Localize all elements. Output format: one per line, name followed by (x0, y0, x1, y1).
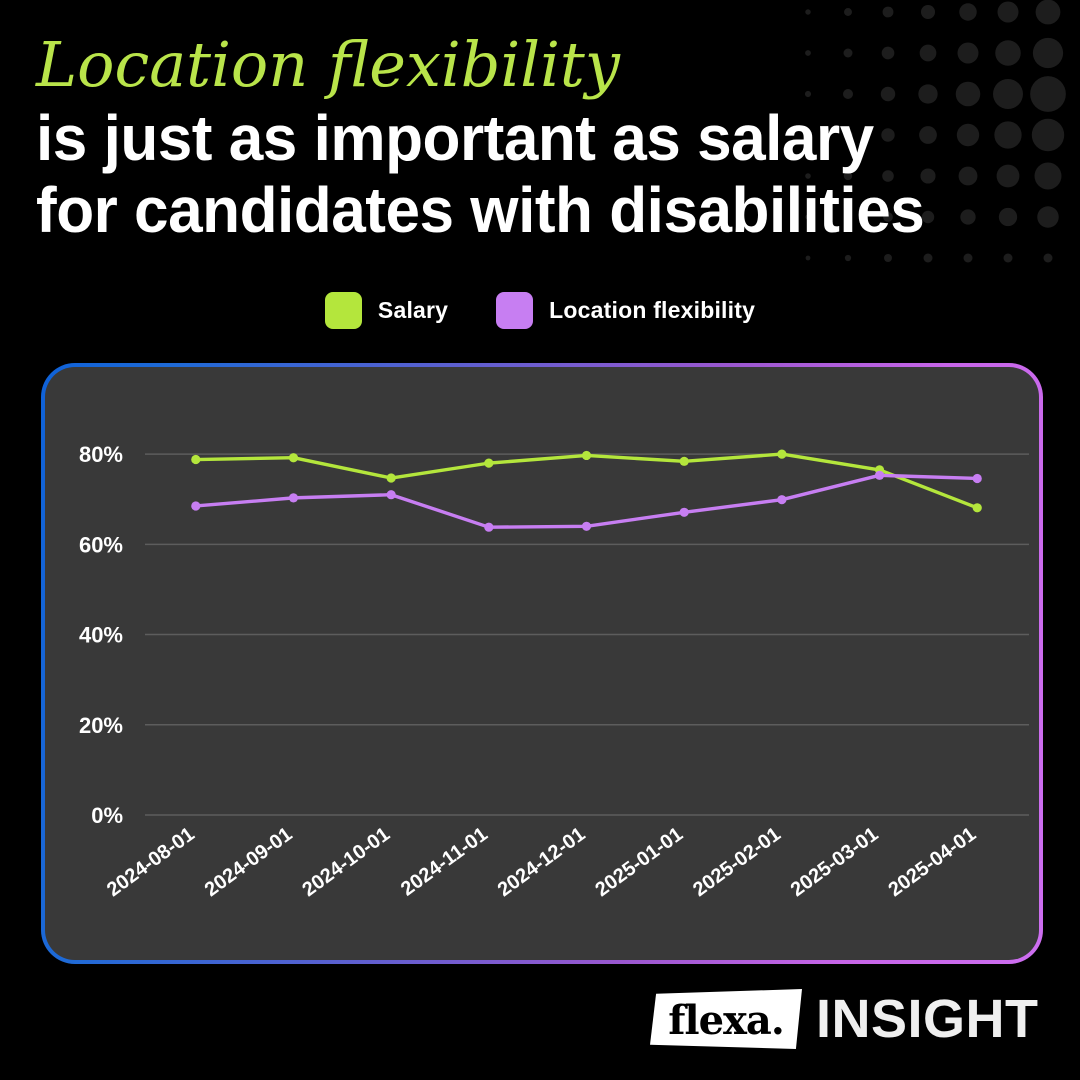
legend-item-salary[interactable]: Salary (325, 292, 448, 329)
x-axis-tick-label: 2024-09-01 (201, 823, 297, 901)
legend-item-location-flexibility[interactable]: Location flexibility (496, 292, 755, 329)
series-line-location-flexibility (196, 475, 977, 527)
flexa-logo-mark: flexa. (650, 989, 802, 1049)
poster-root: Location flexibility is just as importan… (0, 0, 1080, 1080)
x-axis-tick: 2024-08-01 (103, 823, 199, 901)
x-axis-tick-label: 2025-04-01 (884, 823, 980, 901)
headline-line-2: for candidates with disabilities (36, 174, 1016, 246)
data-point[interactable] (289, 453, 298, 462)
insight-wordmark: INSIGHT (816, 988, 1039, 1050)
x-axis-tick-label: 2025-03-01 (787, 823, 883, 901)
chart-card: 0%20%40%60%80%2024-08-012024-09-012024-1… (45, 367, 1039, 960)
legend-label-location-flexibility: Location flexibility (549, 297, 755, 324)
chart-legend: Salary Location flexibility (0, 292, 1080, 329)
headline-block: Location flexibility is just as importan… (36, 28, 1046, 246)
data-point[interactable] (973, 474, 982, 483)
headline-accent-text: Location flexibility (36, 28, 1046, 102)
data-point[interactable] (484, 523, 493, 532)
legend-label-salary: Salary (378, 297, 448, 324)
data-point[interactable] (680, 508, 689, 517)
brand-footer: flexa. INSIGHT (650, 985, 1039, 1053)
x-axis-tick-label: 2024-08-01 (103, 823, 199, 901)
data-point[interactable] (387, 490, 396, 499)
flexa-wordmark: flexa. (668, 997, 784, 1044)
x-axis-tick: 2024-11-01 (397, 823, 492, 900)
x-axis-tick-label: 2024-11-01 (397, 823, 492, 900)
x-axis-tick-label: 2025-01-01 (591, 823, 687, 901)
legend-swatch-salary (325, 292, 362, 329)
data-point[interactable] (484, 459, 493, 468)
data-point[interactable] (973, 503, 982, 512)
x-axis-tick: 2025-01-01 (591, 823, 687, 901)
y-axis-tick-label: 80% (79, 442, 123, 467)
data-point[interactable] (387, 473, 396, 482)
x-axis-tick: 2024-10-01 (298, 823, 394, 901)
data-point[interactable] (777, 495, 786, 504)
legend-swatch-location-flexibility (496, 292, 533, 329)
x-axis-tick-label: 2024-10-01 (298, 823, 394, 901)
y-axis-tick-label: 40% (79, 623, 123, 648)
x-axis-tick: 2025-02-01 (689, 823, 785, 901)
x-axis-tick: 2025-03-01 (787, 823, 883, 901)
x-axis-tick: 2024-12-01 (494, 823, 590, 901)
x-axis-tick: 2025-04-01 (884, 823, 980, 901)
data-point[interactable] (289, 493, 298, 502)
headline-line-1: is just as important as salary (36, 102, 1016, 174)
x-axis-tick: 2024-09-01 (201, 823, 297, 901)
y-axis-tick-label: 0% (91, 803, 123, 828)
chart-card-border: 0%20%40%60%80%2024-08-012024-09-012024-1… (41, 363, 1043, 964)
data-point[interactable] (582, 522, 591, 531)
data-point[interactable] (875, 471, 884, 480)
y-axis-tick-label: 20% (79, 713, 123, 738)
data-point[interactable] (191, 501, 200, 510)
data-point[interactable] (191, 455, 200, 464)
y-axis-tick-label: 60% (79, 532, 123, 557)
data-point[interactable] (777, 450, 786, 459)
data-point[interactable] (680, 457, 689, 466)
data-point[interactable] (582, 451, 591, 460)
x-axis-tick-label: 2025-02-01 (689, 823, 785, 901)
x-axis-tick-label: 2024-12-01 (494, 823, 590, 901)
line-chart-plot: 0%20%40%60%80%2024-08-012024-09-012024-1… (45, 367, 1039, 960)
